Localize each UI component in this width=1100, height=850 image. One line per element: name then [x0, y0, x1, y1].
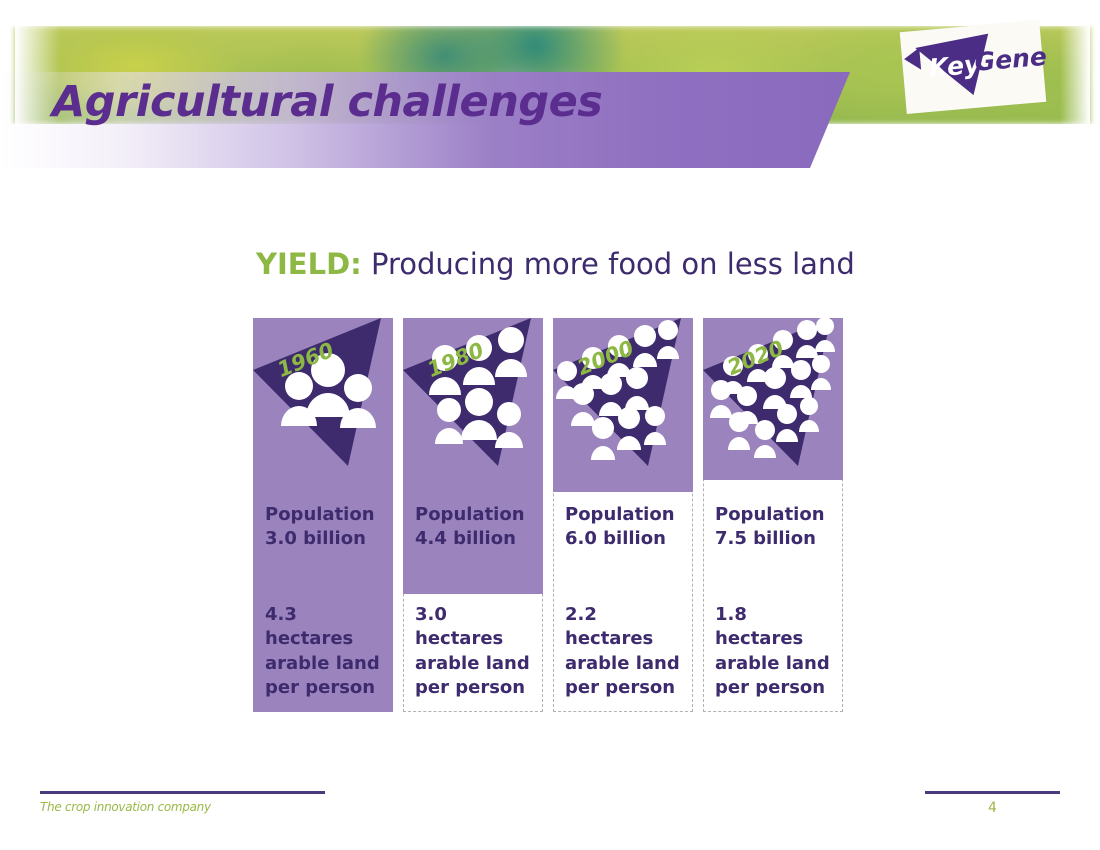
population-text-1980: Population 4.4 billion	[415, 503, 541, 552]
chart-column-1980: 1980 Population 4.4 billion 3.0 hectares…	[403, 318, 543, 712]
heading-keyword: YIELD:	[256, 247, 362, 281]
keygene-logo: Key Gene	[899, 23, 1049, 109]
land-text-1960: 4.3 hectares arable land per person	[265, 603, 391, 700]
footer-rule-right	[925, 791, 1060, 794]
footer-tagline: The crop innovation company	[40, 800, 440, 822]
land-text-1980: 3.0 hectares arable land per person	[415, 603, 541, 700]
chart-column-2000: 2000 Population 6.0 billion 2.2 hectares…	[553, 318, 693, 712]
banner-fade-right	[1060, 26, 1090, 124]
page-number: 4	[925, 800, 1060, 822]
heading-rest: Producing more food on less land	[362, 247, 855, 281]
population-text-1960: Population 3.0 billion	[265, 503, 391, 552]
footer-rule-left	[40, 791, 325, 794]
land-text-2000: 2.2 hectares arable land per person	[565, 603, 691, 700]
svg-text:Gene: Gene	[973, 42, 1047, 77]
page-title: Agricultural challenges	[52, 72, 872, 132]
chart-column-1960: 1960 Population 3.0 billion 4.3 hectares…	[253, 318, 393, 712]
section-heading: YIELD: Producing more food on less land	[256, 247, 956, 287]
population-text-2020: Population 7.5 billion	[715, 503, 841, 552]
land-text-2020: 1.8 hectares arable land per person	[715, 603, 841, 700]
chart-column-2020: 2020 Population 7.5 billion 1.8 hectares…	[703, 318, 843, 712]
population-text-2000: Population 6.0 billion	[565, 503, 691, 552]
